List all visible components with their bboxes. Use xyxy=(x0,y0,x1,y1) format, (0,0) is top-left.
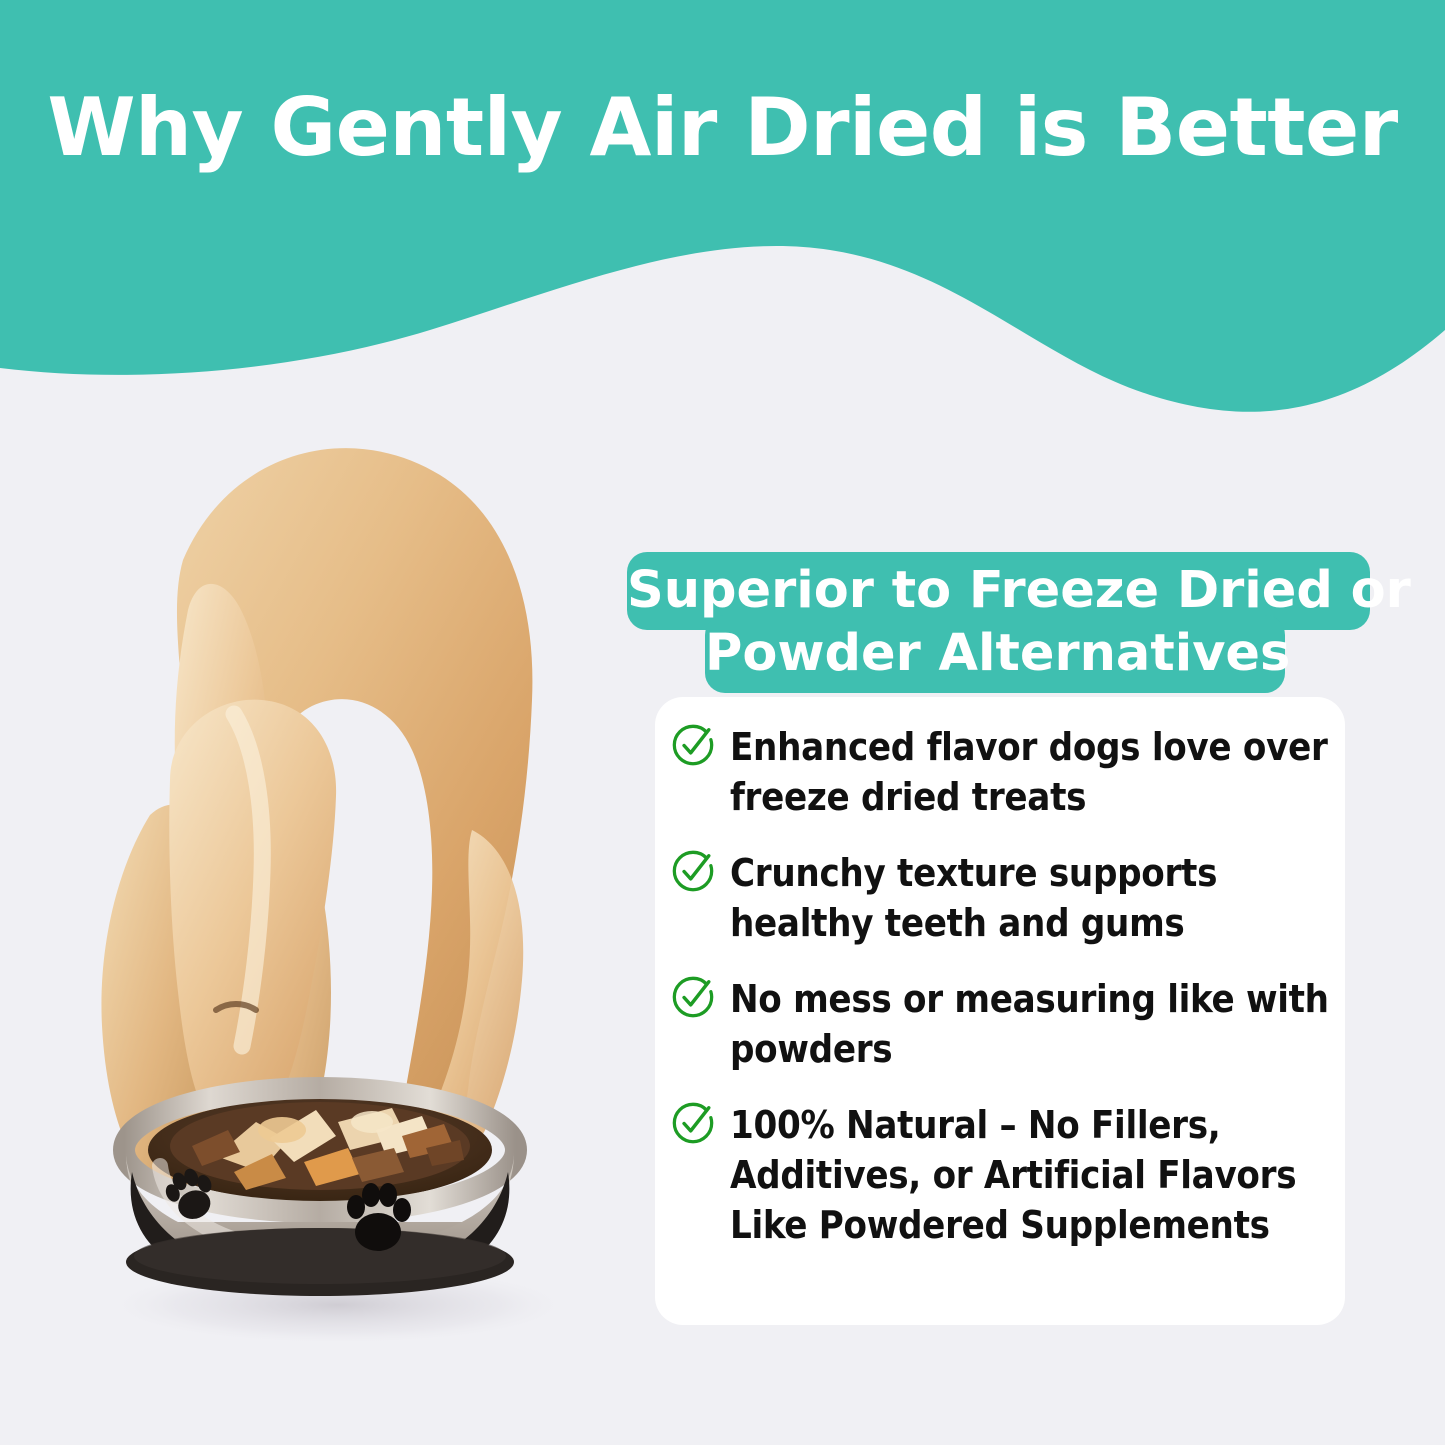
page-title: Why Gently Air Dried is Better xyxy=(0,88,1445,168)
list-item: No mess or measuring like with powders xyxy=(672,974,1332,1074)
air-dried-treats xyxy=(170,1102,470,1190)
list-item: Crunchy texture supports healthy teeth a… xyxy=(672,848,1332,948)
list-item-label: Enhanced flavor dogs love over freeze dr… xyxy=(730,722,1332,822)
check-circle-icon xyxy=(672,724,714,766)
list-item: Enhanced flavor dogs love over freeze dr… xyxy=(672,722,1332,822)
list-item: 100% Natural – No Fillers, Additives, or… xyxy=(672,1100,1332,1250)
dog-illustration xyxy=(20,310,620,1360)
badge-line-2: Powder Alternatives xyxy=(705,615,1285,693)
dog-bowl xyxy=(124,1088,516,1296)
benefits-list: Enhanced flavor dogs love over freeze dr… xyxy=(672,722,1332,1250)
list-item-label: 100% Natural – No Fillers, Additives, or… xyxy=(730,1100,1332,1250)
list-item-label: No mess or measuring like with powders xyxy=(730,974,1332,1074)
infographic-canvas: Why Gently Air Dried is Better xyxy=(0,0,1445,1445)
check-circle-icon xyxy=(672,976,714,1018)
check-circle-icon xyxy=(672,850,714,892)
check-circle-icon xyxy=(672,1102,714,1144)
list-item-label: Crunchy texture supports healthy teeth a… xyxy=(730,848,1332,948)
dog-eating-photo xyxy=(20,310,620,1360)
